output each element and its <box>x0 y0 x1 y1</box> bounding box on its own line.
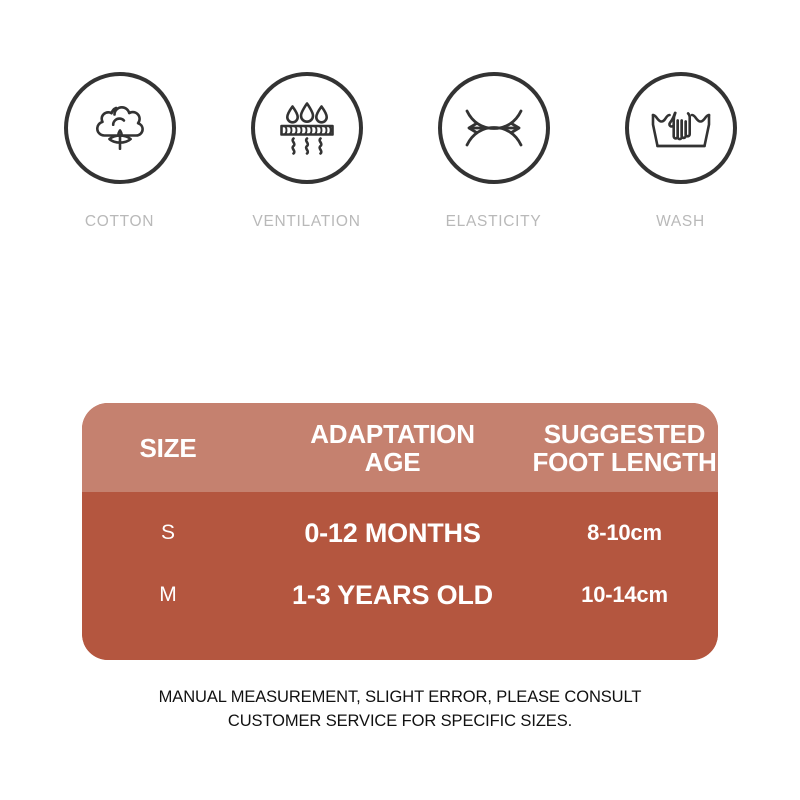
disclaimer-line-2: CUSTOMER SERVICE FOR SPECIFIC SIZES. <box>0 710 800 734</box>
cell-size: S <box>82 521 254 545</box>
size-chart-table: SIZE ADAPTATION AGE SUGGESTED FOOT LENGT… <box>82 403 718 660</box>
feature-cotton: COTTON <box>42 72 197 231</box>
feature-label: ELASTICITY <box>446 213 542 231</box>
feature-label: VENTILATION <box>252 213 360 231</box>
table-row: M 1-3 YEARS OLD 10-14cm <box>82 564 718 626</box>
table-header-row: SIZE ADAPTATION AGE SUGGESTED FOOT LENGT… <box>82 403 718 492</box>
feature-elasticity: ELASTICITY <box>416 72 571 231</box>
feature-circle <box>64 72 176 184</box>
table-body: S 0-12 MONTHS 8-10cm M 1-3 YEARS OLD 10-… <box>82 492 718 660</box>
cell-adaptation-age: 0-12 MONTHS <box>254 518 531 549</box>
cell-foot-length: 10-14cm <box>531 582 718 608</box>
product-infographic: COTTON <box>0 0 800 800</box>
feature-icon-row: COTTON <box>0 72 800 231</box>
header-cell-adaptation-age: ADAPTATION AGE <box>254 421 531 476</box>
feature-wash: WASH <box>603 72 758 231</box>
header-length-line2: FOOT LENGTH <box>531 449 718 477</box>
cotton-boll-icon <box>84 92 156 164</box>
table-row: S 0-12 MONTHS 8-10cm <box>82 502 718 564</box>
feature-label: WASH <box>656 213 705 231</box>
disclaimer-line-1: MANUAL MEASUREMENT, SLIGHT ERROR, PLEASE… <box>0 686 800 710</box>
header-age-line1: ADAPTATION <box>254 421 531 449</box>
cell-adaptation-age: 1-3 YEARS OLD <box>254 580 531 611</box>
measurement-disclaimer: MANUAL MEASUREMENT, SLIGHT ERROR, PLEASE… <box>0 686 800 734</box>
feature-circle <box>251 72 363 184</box>
hand-wash-icon <box>644 91 718 165</box>
header-cell-foot-length: SUGGESTED FOOT LENGTH <box>531 421 718 476</box>
header-age-line2: AGE <box>254 449 531 477</box>
feature-circle <box>438 72 550 184</box>
feature-circle <box>625 72 737 184</box>
feature-label: COTTON <box>85 213 154 231</box>
feature-ventilation: VENTILATION <box>229 72 384 231</box>
cell-foot-length: 8-10cm <box>531 520 718 546</box>
elasticity-icon <box>457 91 531 165</box>
ventilation-icon <box>271 92 343 164</box>
cell-size: M <box>82 583 254 607</box>
header-cell-size: SIZE <box>82 435 254 463</box>
header-length-line1: SUGGESTED <box>531 421 718 449</box>
